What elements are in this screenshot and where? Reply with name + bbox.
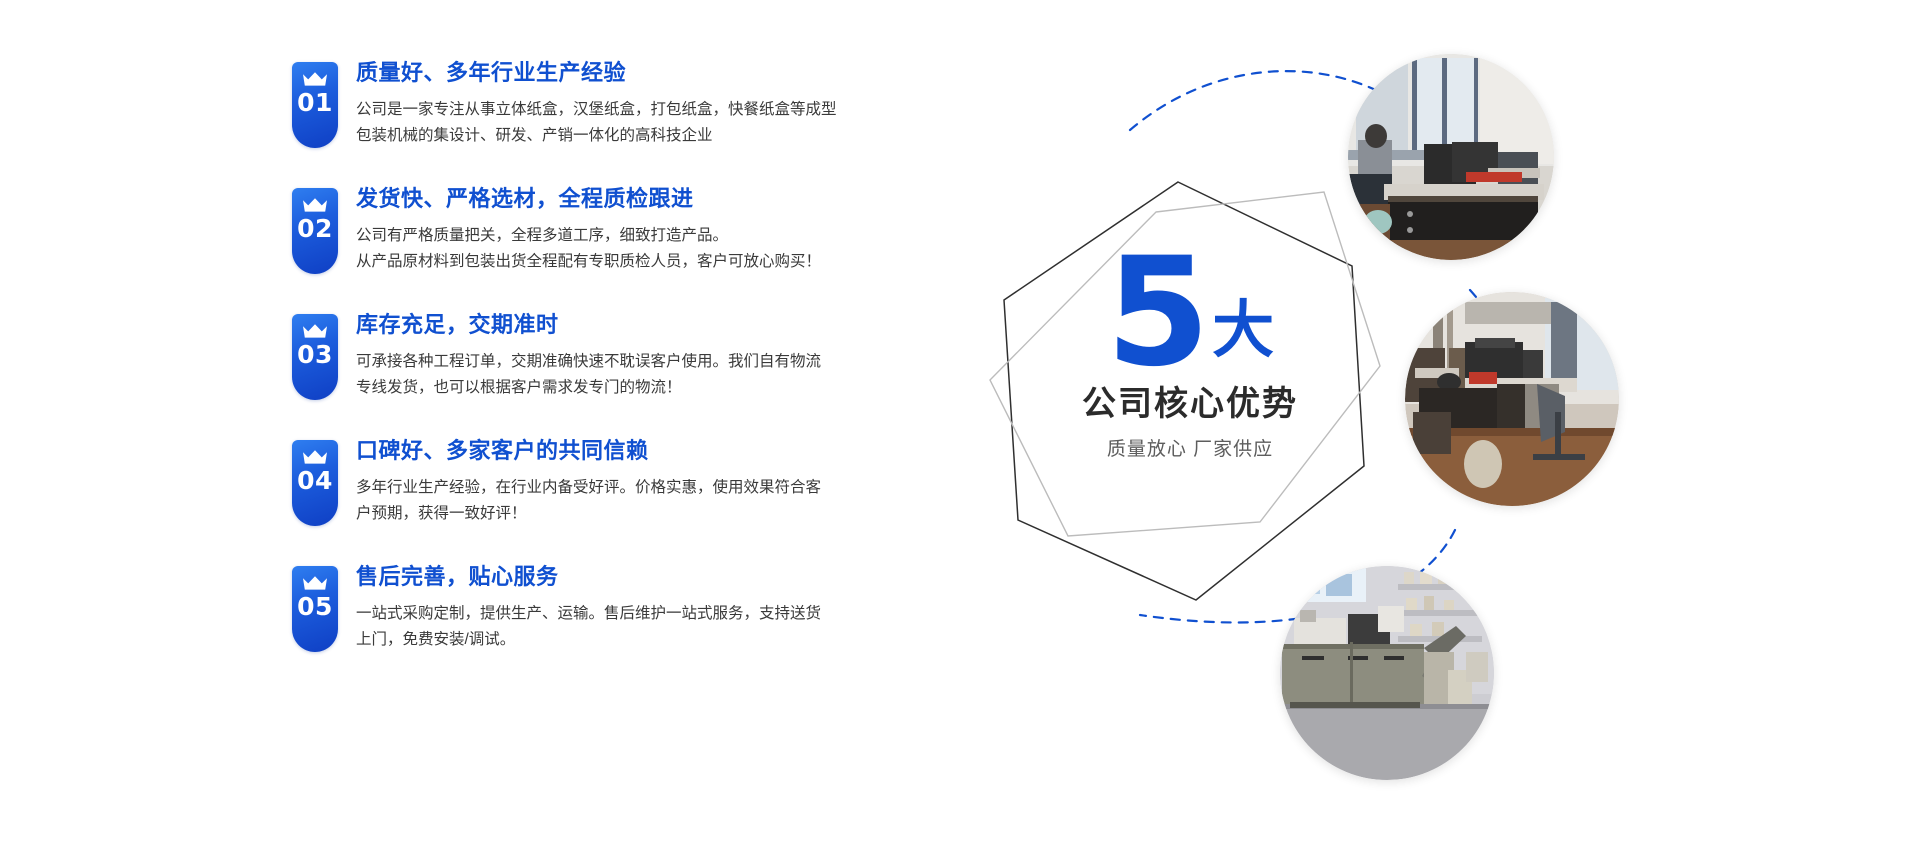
centerpiece-subtitle: 质量放心 厂家供应 (1010, 434, 1370, 461)
centerpiece-title: 公司核心优势 (1010, 376, 1370, 425)
right-graphic-panel: 5 大 公司核心优势 质量放心 厂家供应 (950, 0, 1920, 847)
feature-item-04[interactable]: 04 口碑好、多家客户的共同信赖 多年行业生产经验，在行业内备受好评。价格实惠，… (292, 436, 932, 526)
feature-item-01[interactable]: 01 质量好、多年行业生产经验 公司是一家专注从事立体纸盒，汉堡纸盒，打包纸盒，… (292, 58, 932, 148)
feature-number-01: 01 (297, 90, 333, 115)
centerpiece-big-unit: 大 (1212, 300, 1274, 362)
feature-body-04: 口碑好、多家客户的共同信赖 多年行业生产经验，在行业内备受好评。价格实惠，使用效… (356, 436, 821, 526)
centerpiece-big-number: 5 (1106, 255, 1206, 372)
feature-desc-02-line-1: 公司有严格质量把关，全程多道工序，细致打造产品。 (356, 223, 821, 248)
centerpiece-headline: 5 大 (1010, 255, 1370, 372)
feature-number-02: 02 (297, 216, 333, 241)
crown-icon (302, 449, 328, 466)
packaging-machine-photo (1280, 566, 1494, 780)
feature-badge-05: 05 (292, 566, 338, 652)
feature-body-03: 库存充足，交期准时 可承接各种工程订单，交期准确快速不耽误客户使用。我们自有物流… (356, 310, 821, 400)
feature-title-04: 口碑好、多家客户的共同信赖 (356, 438, 821, 464)
crown-icon (302, 323, 328, 340)
feature-item-05[interactable]: 05 售后完善，贴心服务 一站式采购定制，提供生产、运输。售后维护一站式服务，支… (292, 562, 932, 652)
feature-body-02: 发货快、严格选材，全程质检跟进 公司有严格质量把关，全程多道工序，细致打造产品。… (356, 184, 821, 274)
promo-banner: 01 质量好、多年行业生产经验 公司是一家专注从事立体纸盒，汉堡纸盒，打包纸盒，… (0, 0, 1920, 847)
feature-body-01: 质量好、多年行业生产经验 公司是一家专注从事立体纸盒，汉堡纸盒，打包纸盒，快餐纸… (356, 58, 837, 148)
feature-number-04: 04 (297, 468, 333, 493)
centerpiece: 5 大 公司核心优势 质量放心 厂家供应 (1010, 255, 1370, 461)
feature-body-05: 售后完善，贴心服务 一站式采购定制，提供生产、运输。售后维护一站式服务，支持送货… (356, 562, 821, 652)
crown-icon (302, 197, 328, 214)
feature-badge-04: 04 (292, 440, 338, 526)
feature-badge-03: 03 (292, 314, 338, 400)
feature-desc-04-line-1: 多年行业生产经验，在行业内备受好评。价格实惠，使用效果符合客 (356, 475, 821, 500)
feature-item-02[interactable]: 02 发货快、严格选材，全程质检跟进 公司有严格质量把关，全程多道工序，细致打造… (292, 184, 932, 274)
office-workstation-photo (1348, 54, 1554, 260)
feature-list: 01 质量好、多年行业生产经验 公司是一家专注从事立体纸盒，汉堡纸盒，打包纸盒，… (292, 58, 932, 652)
feature-desc-01: 公司是一家专注从事立体纸盒，汉堡纸盒，打包纸盒，快餐纸盒等成型 包装机械的集设计… (356, 97, 837, 147)
feature-desc-04-line-2: 户预期，获得一致好评！ (356, 501, 821, 526)
feature-desc-01-line-2: 包装机械的集设计、研发、产销一体化的高科技企业 (356, 123, 837, 148)
feature-desc-02-line-2: 从产品原材料到包装出货全程配有专职质检人员，客户可放心购买！ (356, 249, 821, 274)
feature-desc-03-line-2: 专线发货，也可以根据客户需求发专门的物流！ (356, 375, 821, 400)
crown-icon (302, 575, 328, 592)
feature-number-03: 03 (297, 342, 333, 367)
feature-title-03: 库存充足，交期准时 (356, 312, 821, 338)
feature-desc-03-line-1: 可承接各种工程订单，交期准确快速不耽误客户使用。我们自有物流 (356, 349, 821, 374)
feature-desc-04: 多年行业生产经验，在行业内备受好评。价格实惠，使用效果符合客 户预期，获得一致好… (356, 475, 821, 525)
feature-title-01: 质量好、多年行业生产经验 (356, 60, 837, 86)
office-desk-photo (1405, 292, 1619, 506)
crown-icon (302, 71, 328, 88)
feature-desc-02: 公司有严格质量把关，全程多道工序，细致打造产品。 从产品原材料到包装出货全程配有… (356, 223, 821, 273)
feature-title-02: 发货快、严格选材，全程质检跟进 (356, 186, 821, 212)
feature-badge-01: 01 (292, 62, 338, 148)
feature-desc-05-line-2: 上门，免费安装/调试。 (356, 627, 821, 652)
feature-number-05: 05 (297, 594, 333, 619)
feature-desc-03: 可承接各种工程订单，交期准确快速不耽误客户使用。我们自有物流 专线发货，也可以根… (356, 349, 821, 399)
feature-desc-05-line-1: 一站式采购定制，提供生产、运输。售后维护一站式服务，支持送货 (356, 601, 821, 626)
feature-desc-01-line-1: 公司是一家专注从事立体纸盒，汉堡纸盒，打包纸盒，快餐纸盒等成型 (356, 97, 837, 122)
feature-desc-05: 一站式采购定制，提供生产、运输。售后维护一站式服务，支持送货 上门，免费安装/调… (356, 601, 821, 651)
feature-badge-02: 02 (292, 188, 338, 274)
feature-title-05: 售后完善，贴心服务 (356, 564, 821, 590)
feature-item-03[interactable]: 03 库存充足，交期准时 可承接各种工程订单，交期准确快速不耽误客户使用。我们自… (292, 310, 932, 400)
